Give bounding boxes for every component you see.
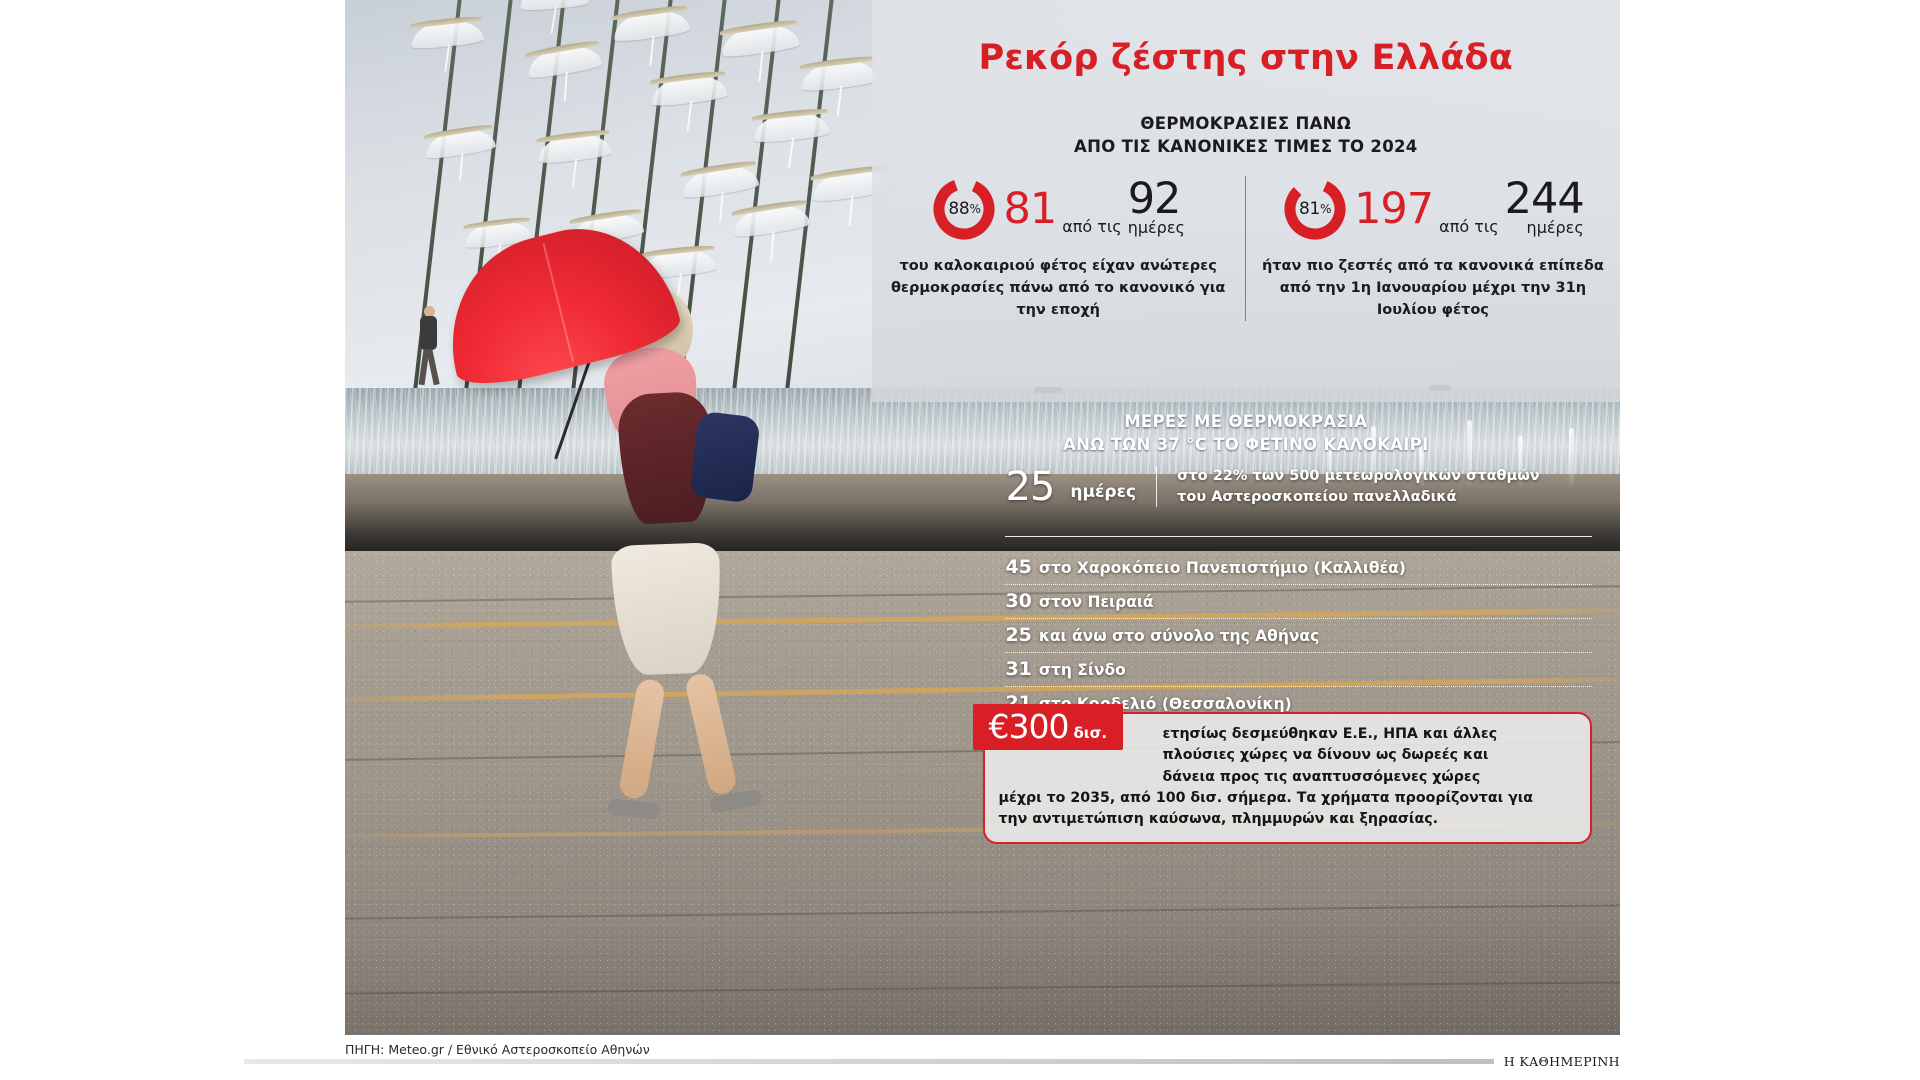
- list-item-label: στη Σίνδο: [1039, 661, 1126, 679]
- donut-percent-label: 81%: [1282, 176, 1348, 242]
- section2-heading-line-1: ΜΕΡΕΣ ΜΕ ΘΕΡΜΟΚΡΑΣΙΑ: [872, 410, 1620, 433]
- stat-value: 81: [1003, 189, 1056, 230]
- stat-total: 244: [1505, 181, 1584, 219]
- stat-total: 92: [1128, 181, 1181, 219]
- publisher-logo: Η ΚΑΘΗΜΕΡΙΝΗ: [244, 1054, 1620, 1069]
- list-item-label: στο Χαροκόπειο Πανεπιστήμιο (Καλλιθέα): [1039, 559, 1406, 577]
- list-item-number: 31: [1005, 658, 1031, 680]
- donut-percent-label: 88%: [931, 176, 997, 242]
- list-item-number: 30: [1005, 590, 1031, 612]
- stat-description: του καλοκαιριού φέτος είχαν ανώτερες θερ…: [886, 256, 1231, 321]
- list-item-label: και άνω στο σύνολο της Αθήνας: [1039, 627, 1319, 645]
- stat-headline: 88% 81 από τις 92 ημέρες: [886, 176, 1231, 242]
- percent-symbol: %: [1320, 202, 1331, 216]
- distant-pedestrian: [416, 306, 442, 386]
- logo-text: Η ΚΑΘΗΜΕΡΙΝΗ: [1504, 1054, 1620, 1069]
- money-amount: €300: [989, 710, 1069, 743]
- stat-total-stack: 244 ημέρες: [1505, 181, 1584, 238]
- stat-unit: ημέρες: [1527, 218, 1584, 237]
- list-item: 31 στη Σίνδο: [1005, 653, 1592, 687]
- stat-total-stack: 92 ημέρες: [1128, 181, 1185, 238]
- list-item-label: στον Πειραιά: [1039, 593, 1154, 611]
- shoulder-bag: [689, 411, 761, 504]
- highlight-text-line-2: του Αστεροσκοπείου πανελλαδικά: [1177, 487, 1540, 508]
- vertical-divider: [1156, 466, 1157, 507]
- subheading-line-1: ΘΕΡΜΟΚΡΑΣΙΕΣ ΠΑΝΩ: [872, 112, 1620, 135]
- section2-heading-line-2: ΑΝΩ ΤΩΝ 37 °C ΤΟ ΦΕΤΙΝΟ ΚΑΛΟΚΑΙΡΙ: [872, 433, 1620, 456]
- highlight-row-25-days: 25 ημέρες στο 22% των 500 μετεωρολογικών…: [1005, 466, 1592, 507]
- list-item: 30 στον Πειραιά: [1005, 585, 1592, 619]
- stat-description: ήταν πιο ζεστές από τα κανονικά επίπεδα …: [1260, 256, 1606, 321]
- donut-percent-value: 88: [948, 199, 969, 219]
- highlight-number: 25: [1005, 467, 1054, 507]
- stat-headline: 81% 197 από τις 244 ημέρες: [1260, 176, 1606, 242]
- list-item-number: 25: [1005, 624, 1031, 646]
- highlight-text-line-1: στο 22% των 500 μετεωρολογικών σταθμών: [1177, 466, 1540, 487]
- money-line-5: την αντιμετώπιση καύσωνα, πλημμυρών και …: [999, 811, 1439, 827]
- highlight-text: στο 22% των 500 μετεωρολογικών σταθμών τ…: [1177, 466, 1540, 507]
- section2-heading: ΜΕΡΕΣ ΜΕ ΘΕΡΜΟΚΡΑΣΙΑ ΑΝΩ ΤΩΝ 37 °C ΤΟ ΦΕ…: [872, 410, 1620, 457]
- subheading-line-2: ΑΠΟ ΤΙΣ ΚΑΝΟΝΙΚΕΣ ΤΙΜΕΣ ΤΟ 2024: [872, 135, 1620, 158]
- highlight-unit: ημέρες: [1070, 482, 1136, 507]
- money-scale: δισ.: [1073, 724, 1107, 742]
- section-separator: [1005, 536, 1592, 537]
- station-days-list: 45 στο Χαροκόπειο Πανεπιστήμιο (Καλλιθέα…: [1005, 551, 1592, 720]
- stat-connector: από τις: [1439, 217, 1499, 242]
- logo-rule: [244, 1059, 1494, 1064]
- stat-connector: από τις: [1062, 217, 1122, 242]
- subheading: ΘΕΡΜΟΚΡΑΣΙΕΣ ΠΑΝΩ ΑΠΟ ΤΙΣ ΚΑΝΟΝΙΚΕΣ ΤΙΜΕ…: [872, 112, 1620, 159]
- donut-chart-88: 88%: [931, 176, 997, 242]
- donut-chart-81: 81%: [1282, 176, 1348, 242]
- stat-value: 197: [1354, 189, 1433, 230]
- percent-symbol: %: [969, 202, 980, 216]
- page-title: Ρεκόρ ζέστης στην Ελλάδα: [872, 38, 1620, 78]
- money-line-3: δάνεια προς τις αναπτυσσόμενες χώρες: [999, 767, 1576, 788]
- infographic-frame: Ρεκόρ ζέστης στην Ελλάδα ΘΕΡΜΟΚΡΑΣΙΕΣ ΠΑ…: [345, 0, 1620, 1035]
- stat-block-summer: 88% 81 από τις 92 ημέρες του καλοκαιριού…: [872, 176, 1246, 321]
- stat-unit: ημέρες: [1128, 218, 1185, 237]
- list-item: 25 και άνω στο σύνολο της Αθήνας: [1005, 619, 1592, 653]
- money-amount-tag: €300 δισ.: [973, 704, 1124, 750]
- list-item: 45 στο Χαροκόπειο Πανεπιστήμιο (Καλλιθέα…: [1005, 551, 1592, 585]
- money-line-4: μέχρι το 2035, από 100 δισ. σήμερα. Τα χ…: [999, 790, 1534, 806]
- list-item-number: 45: [1005, 556, 1031, 578]
- money-callout-box: €300 δισ. ετησίως δεσμεύθηκαν Ε.Ε., ΗΠΑ …: [983, 712, 1592, 844]
- stat-block-year: 81% 197 από τις 244 ημέρες ήταν πιο ζεστ…: [1246, 176, 1620, 321]
- donut-percent-value: 81: [1299, 199, 1320, 219]
- donut-stats-row: 88% 81 από τις 92 ημέρες του καλοκαιριού…: [872, 176, 1620, 326]
- infographic-root: Ρεκόρ ζέστης στην Ελλάδα ΘΕΡΜΟΚΡΑΣΙΕΣ ΠΑ…: [0, 0, 1920, 1080]
